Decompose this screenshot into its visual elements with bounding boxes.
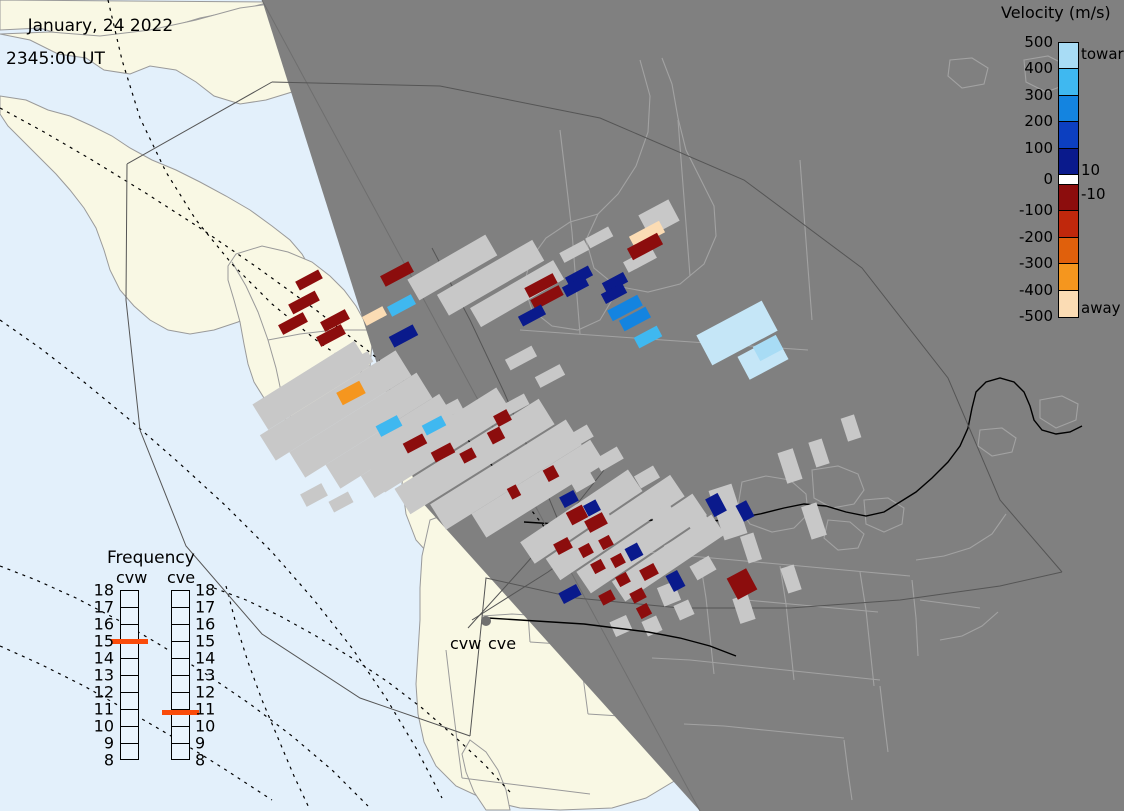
frequency-cell (172, 591, 189, 608)
velocity-tick--200: -200 (1019, 228, 1053, 246)
frequency-legend: Frequency cvw18171615141312111098cve1817… (85, 545, 245, 795)
velocity-band-9 (1059, 264, 1078, 290)
frequency-cell (121, 591, 138, 608)
frequency-cell (172, 676, 189, 693)
velocity-tick-500: 500 (1024, 33, 1053, 51)
velocity-tick-300: 300 (1024, 86, 1053, 104)
frequency-cell (121, 676, 138, 693)
velocity-tick-100: 100 (1024, 139, 1053, 157)
velocity-tick-200: 200 (1024, 112, 1053, 130)
velocity-band-0 (1059, 43, 1078, 69)
frequency-cell (172, 625, 189, 642)
velocity-label-away: away (1081, 299, 1121, 317)
timestamp-date: January, 24 2022 (28, 16, 174, 36)
velocity-tick--300: -300 (1019, 254, 1053, 272)
velocity-legend: Velocity (m/s) 5004003002001000-100-200-… (995, 0, 1124, 340)
site-label-cvw: cvw (450, 634, 481, 653)
frequency-cell (172, 642, 189, 659)
frequency-cell (121, 727, 138, 744)
frequency-bar-cvw (120, 590, 139, 760)
frequency-tick-cvw-8: 8 (92, 751, 114, 770)
velocity-band-7 (1059, 211, 1078, 237)
velocity-band-10 (1059, 291, 1078, 317)
velocity-band-5 (1059, 175, 1078, 185)
timestamp-time: 2345:00 UT (6, 51, 173, 68)
radar-site-marker (481, 616, 491, 626)
velocity-label-pos-threshold: 10 (1081, 161, 1100, 179)
velocity-colorbar (1058, 42, 1079, 318)
velocity-side-labels: toward10-10away (1081, 0, 1124, 340)
velocity-tick--400: -400 (1019, 281, 1053, 299)
velocity-band-3 (1059, 122, 1078, 148)
frequency-cell (121, 608, 138, 625)
frequency-bar-cve (171, 590, 190, 760)
velocity-tick-400: 400 (1024, 59, 1053, 77)
frequency-cell (121, 744, 138, 761)
site-label-cve: cve (488, 634, 516, 653)
frequency-cell (121, 642, 138, 659)
frequency-cell (172, 659, 189, 676)
velocity-band-6 (1059, 185, 1078, 211)
frequency-cell (121, 710, 138, 727)
velocity-label-neg-threshold: -10 (1081, 185, 1106, 203)
velocity-tick--100: -100 (1019, 201, 1053, 219)
frequency-column-label-cvw: cvw (116, 568, 147, 587)
velocity-tick--500: -500 (1019, 307, 1053, 325)
velocity-label-toward: toward (1081, 45, 1124, 63)
velocity-band-4 (1059, 149, 1078, 175)
velocity-band-2 (1059, 96, 1078, 122)
velocity-band-8 (1059, 238, 1078, 264)
velocity-tick-labels: 5004003002001000-100-200-300-400-500 (995, 0, 1055, 340)
frequency-cell (172, 693, 189, 710)
velocity-tick-0: 0 (1043, 170, 1053, 188)
frequency-tick-cve-8: 8 (195, 751, 217, 770)
timestamp: January, 24 2022 2345:00 UT (6, 1, 173, 102)
frequency-cell (121, 693, 138, 710)
frequency-cell (121, 659, 138, 676)
frequency-marker-cve (162, 710, 199, 715)
frequency-marker-cvw (111, 639, 148, 644)
frequency-cell (172, 727, 189, 744)
velocity-band-1 (1059, 69, 1078, 95)
frequency-cell (172, 608, 189, 625)
superdarn-map-view: January, 24 2022 2345:00 UT Velocity (m/… (0, 0, 1124, 811)
frequency-legend-title: Frequency (107, 548, 195, 568)
frequency-column-label-cve: cve (167, 568, 195, 587)
frequency-cell (172, 744, 189, 761)
